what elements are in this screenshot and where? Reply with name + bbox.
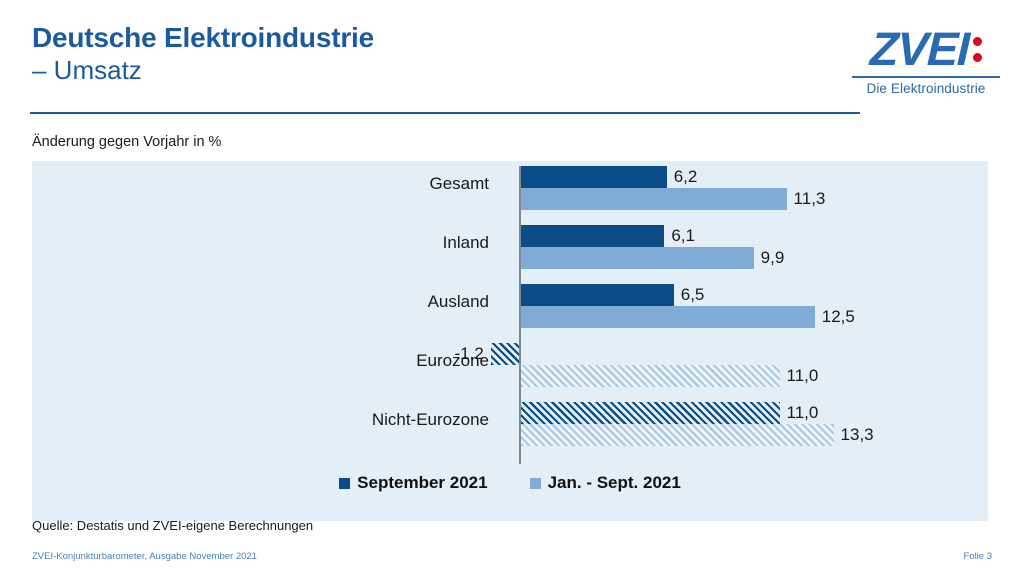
category-label: Gesamt <box>32 174 489 194</box>
chart-panel: Gesamt6,211,3Inland6,19,9Ausland6,512,5E… <box>32 161 988 521</box>
bar-jan-sept <box>521 424 834 446</box>
category-label: Nicht-Eurozone <box>32 410 489 430</box>
zvei-wordmark: ZVEI <box>869 24 969 74</box>
category-label: Inland <box>32 233 489 253</box>
category-label: Ausland <box>32 292 489 312</box>
bar-jan-sept <box>521 247 754 269</box>
logo-divider <box>852 76 1000 78</box>
bar-september <box>521 284 674 306</box>
page-title: Deutsche Elektroindustrie – Umsatz <box>32 22 374 86</box>
zvei-wordmark-wrap: ZVEI <box>850 24 1002 74</box>
chart-subtitle: Änderung gegen Vorjahr in % <box>32 134 221 150</box>
footer-page-number: Folie 3 <box>963 551 992 562</box>
bar-september <box>521 402 780 424</box>
legend-label: Jan. - Sept. 2021 <box>548 473 681 493</box>
footer-left-text: ZVEI-Konjunkturbarometer, Ausgabe Novemb… <box>32 551 257 562</box>
header-divider <box>30 112 860 114</box>
chart-legend: September 2021Jan. - Sept. 2021 <box>32 473 988 493</box>
bar-jan-sept <box>521 365 780 387</box>
bar-value-label: 6,1 <box>671 225 695 247</box>
legend-label: September 2021 <box>357 473 487 493</box>
bar-group: Eurozone-1,211,0 <box>32 338 988 388</box>
legend-swatch-icon <box>530 478 541 489</box>
zvei-logo: ZVEI Die Elektroindustrie <box>850 24 1002 96</box>
colon-dots-icon <box>973 24 982 62</box>
bar-value-label: 9,9 <box>761 247 785 269</box>
legend-swatch-icon <box>339 478 350 489</box>
bar-september <box>521 166 667 188</box>
plot-area: Gesamt6,211,3Inland6,19,9Ausland6,512,5E… <box>32 161 988 521</box>
bar-group: Ausland6,512,5 <box>32 279 988 329</box>
bar-value-label: 6,2 <box>674 166 698 188</box>
bar-value-label: -1,2 <box>455 343 484 365</box>
bar-group: Gesamt6,211,3 <box>32 161 988 211</box>
source-note: Quelle: Destatis und ZVEI-eigene Berechn… <box>32 518 313 533</box>
legend-item[interactable]: September 2021 <box>339 473 487 493</box>
bar-value-label: 11,0 <box>787 402 819 424</box>
bar-group: Nicht-Eurozone11,013,3 <box>32 397 988 447</box>
bar-september <box>521 225 664 247</box>
page-title-line1: Deutsche Elektroindustrie <box>32 22 374 54</box>
logo-subtitle: Die Elektroindustrie <box>850 81 1002 96</box>
bar-september <box>491 343 519 365</box>
legend-item[interactable]: Jan. - Sept. 2021 <box>530 473 681 493</box>
bar-value-label: 13,3 <box>841 424 874 446</box>
bar-jan-sept <box>521 306 815 328</box>
bar-jan-sept <box>521 188 787 210</box>
bar-group: Inland6,19,9 <box>32 220 988 270</box>
page-title-line2: – Umsatz <box>32 55 374 85</box>
bar-value-label: 6,5 <box>681 284 705 306</box>
category-label: Eurozone <box>32 351 489 371</box>
bar-value-label: 11,0 <box>787 365 819 387</box>
bar-value-label: 12,5 <box>822 306 855 328</box>
bar-value-label: 11,3 <box>794 188 826 210</box>
